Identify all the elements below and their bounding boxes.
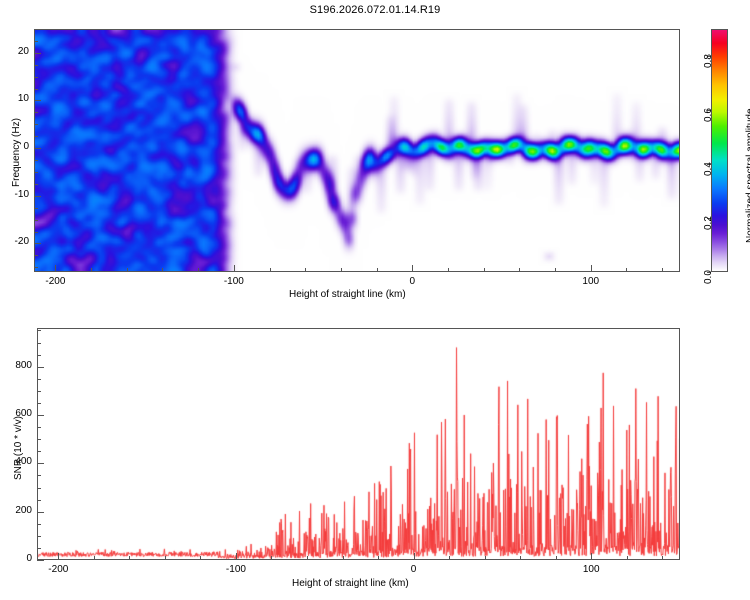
spectrogram-xtick [55, 265, 56, 272]
spectrogram-ytick [34, 53, 41, 54]
colorbar-tick-label: 0.2 [703, 216, 714, 230]
snr-ytick-label: 0 [7, 553, 32, 564]
snr-xtick-minor [449, 556, 450, 560]
snr-xtick [414, 553, 415, 560]
snr-xtick-minor [627, 556, 628, 560]
snr-xtick-label: -100 [222, 564, 250, 575]
spectrogram-ytick-minor [34, 160, 38, 161]
spectrogram-ytick-label: 20 [7, 46, 29, 57]
snr-ytick-minor [37, 330, 41, 331]
spectrogram-xtick-minor [198, 268, 199, 272]
spectrogram-xaxis-label: Height of straight line (km) [289, 289, 406, 300]
spectrogram-ytick-minor [34, 255, 38, 256]
spectrogram-xtick-minor [662, 268, 663, 272]
spectrogram-xtick-label: 100 [577, 276, 605, 287]
spectrogram-xtick-minor [305, 268, 306, 272]
spectrogram-ytick-label: -10 [7, 189, 29, 200]
snr-xtick-minor [129, 556, 130, 560]
spectrogram-ytick-label: 10 [7, 93, 29, 104]
snr-ytick-minor [37, 488, 41, 489]
snr-yaxis-label: SNR (10 * v/v) [13, 416, 24, 480]
spectrogram-xtick-minor [519, 268, 520, 272]
snr-ytick [37, 463, 44, 464]
colorbar-tick-label: 0.6 [703, 108, 714, 122]
snr-xaxis-label: Height of straight line (km) [292, 578, 409, 589]
snr-ytick [37, 415, 44, 416]
colorbar-tick-label: 0.4 [703, 162, 714, 176]
snr-ytick-minor [37, 500, 41, 501]
spectrogram-xtick [234, 265, 235, 272]
colorbar-label: Normalized spectral amplitude [745, 108, 750, 243]
snr-xtick-minor [94, 556, 95, 560]
snr-xtick-minor [200, 556, 201, 560]
spectrogram-ytick-minor [34, 208, 38, 209]
snr-xtick-minor [307, 556, 308, 560]
spectrogram-ytick [34, 196, 41, 197]
snr-ytick [37, 512, 44, 513]
snr-xtick [58, 553, 59, 560]
snr-ytick-minor [37, 355, 41, 356]
snr-xtick-minor [343, 556, 344, 560]
snr-xtick-minor [485, 556, 486, 560]
spectrogram-ytick [34, 100, 41, 101]
spectrogram-xtick-minor [377, 268, 378, 272]
snr-ytick-minor [37, 475, 41, 476]
snr-ytick-minor [37, 427, 41, 428]
spectrogram-xtick-label: -200 [41, 276, 69, 287]
snr-xtick-minor [271, 556, 272, 560]
spectrogram-ytick [34, 148, 41, 149]
snr-xtick-label: -200 [44, 564, 72, 575]
snr-xtick-minor [378, 556, 379, 560]
spectrogram-yaxis-label: Frequency (Hz) [11, 118, 22, 187]
spectrogram-xtick-label: 0 [398, 276, 426, 287]
spectrogram-ytick-minor [34, 184, 38, 185]
snr-ytick [37, 560, 44, 561]
spectrogram-ytick [34, 243, 41, 244]
spectrogram-xtick-label: -100 [220, 276, 248, 287]
spectrogram-xtick-minor [162, 268, 163, 272]
snr-axes-frame [37, 328, 680, 560]
spectrogram-xtick [591, 265, 592, 272]
snr-xtick-label: 0 [400, 564, 428, 575]
colorbar-tick-label: 0.0 [703, 270, 714, 284]
snr-ytick-minor [37, 548, 41, 549]
snr-xtick [236, 553, 237, 560]
snr-ytick-minor [37, 379, 41, 380]
snr-xtick-minor [556, 556, 557, 560]
spectrogram-ytick-minor [34, 136, 38, 137]
spectrogram-ytick-minor [34, 77, 38, 78]
snr-ytick-minor [37, 391, 41, 392]
spectrogram-ytick-minor [34, 112, 38, 113]
spectrogram-xtick-minor [127, 268, 128, 272]
snr-xtick-minor [165, 556, 166, 560]
snr-ytick-label: 200 [7, 505, 32, 516]
snr-ytick-minor [37, 451, 41, 452]
snr-xtick-minor [662, 556, 663, 560]
snr-ytick [37, 367, 44, 368]
spectrogram-ytick-minor [34, 89, 38, 90]
snr-ytick-minor [37, 439, 41, 440]
snr-ytick-label: 800 [7, 360, 32, 371]
colorbar-gradient [712, 30, 727, 271]
snr-xtick-minor [520, 556, 521, 560]
spectrogram-ytick-minor [34, 29, 38, 30]
spectrogram-xtick-minor [91, 268, 92, 272]
snr-ytick-minor [37, 343, 41, 344]
spectrogram-xtick-minor [555, 268, 556, 272]
snr-ytick-minor [37, 524, 41, 525]
spectrogram-ytick-minor [34, 172, 38, 173]
spectrogram-ytick-minor [34, 220, 38, 221]
figure-root: S196.2026.072.01.14.R19 -200 -100 0 100 … [0, 0, 750, 600]
spectrogram-xtick-minor [626, 268, 627, 272]
spectrogram-ytick-minor [34, 124, 38, 125]
spectrogram-xtick [412, 265, 413, 272]
snr-ytick-minor [37, 403, 41, 404]
spectrogram-ytick-minor [34, 232, 38, 233]
spectrogram-xtick-minor [270, 268, 271, 272]
snr-xtick-label: 100 [577, 564, 605, 575]
snr-ytick-minor [37, 536, 41, 537]
colorbar-tick-label: 0.8 [703, 54, 714, 68]
snr-xtick [591, 553, 592, 560]
spectrogram-xtick-minor [448, 268, 449, 272]
spectrogram-ytick-minor [34, 65, 38, 66]
spectrogram-ytick-label: -20 [7, 236, 29, 247]
figure-title: S196.2026.072.01.14.R19 [0, 4, 750, 16]
spectrogram-axes-frame [34, 29, 680, 272]
spectrogram-ytick-minor [34, 267, 38, 268]
spectrogram-xtick-minor [484, 268, 485, 272]
spectrogram-ytick-minor [34, 41, 38, 42]
spectrogram-xtick-minor [341, 268, 342, 272]
